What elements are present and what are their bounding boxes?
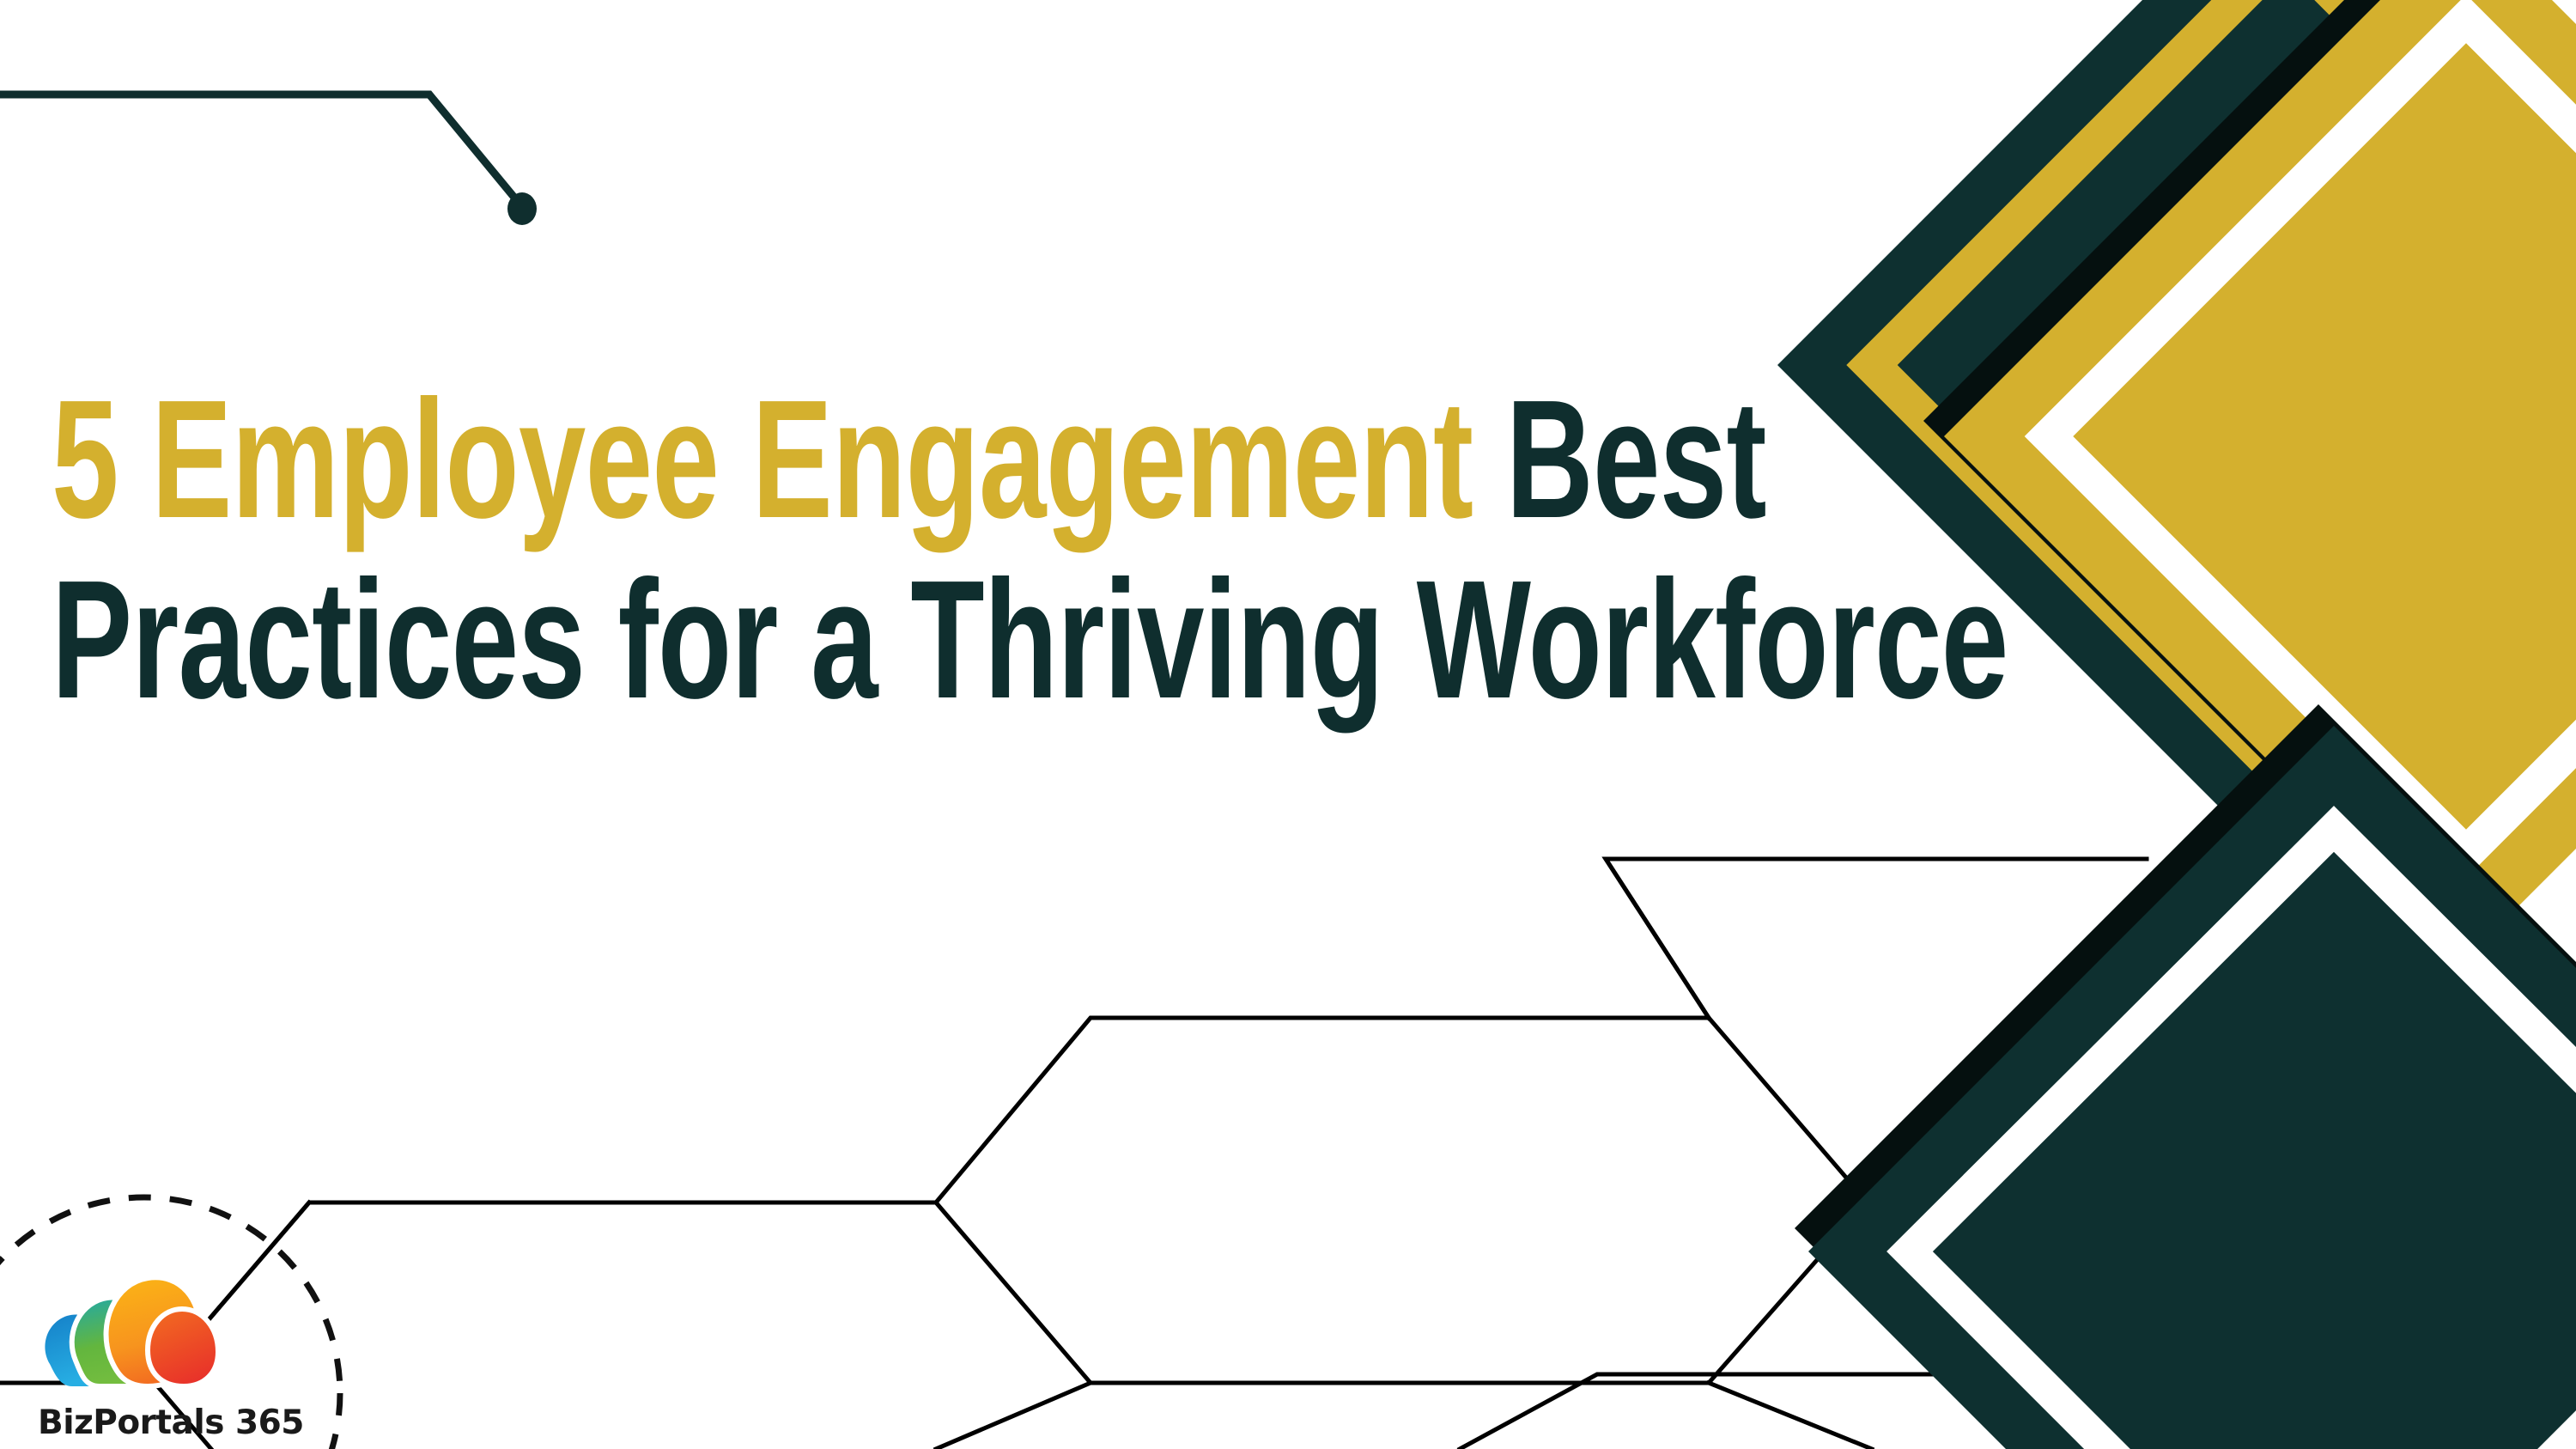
title-highlight-text: 5 Employee Engagement — [52, 365, 1473, 553]
logo-wordmark: BizPortals 365 — [38, 1403, 283, 1442]
brand-logo[interactable]: BizPortals 365 — [34, 1271, 283, 1449]
title-line-1: 5 Employee Engagement Best — [52, 369, 1288, 550]
slide-canvas: 5 Employee Engagement Best Practices for… — [0, 0, 2576, 1449]
title-line-2: Practices for a Thriving Workforce — [52, 550, 1288, 730]
page-title: 5 Employee Engagement Best Practices for… — [52, 369, 1769, 730]
title-line-1-rest: Best — [1473, 365, 1765, 553]
bizportals-cloud-icon — [34, 1271, 232, 1400]
